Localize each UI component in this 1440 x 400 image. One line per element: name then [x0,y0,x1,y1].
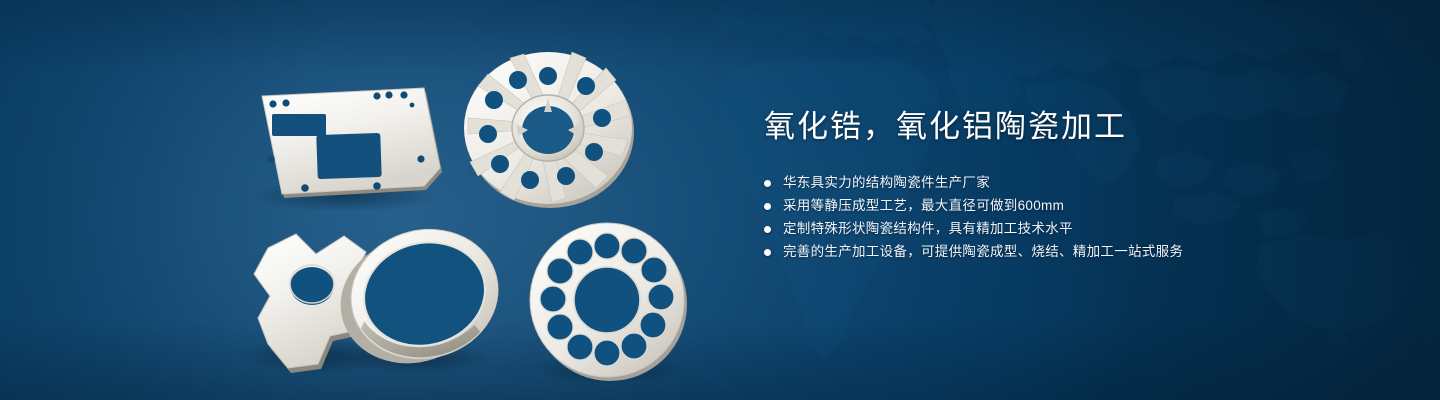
feature-text: 采用等静压成型工艺，最大直径可做到600mm [783,195,1064,217]
page-title: 氧化锆，氧化铝陶瓷加工 [764,104,1404,150]
list-item: 采用等静压成型工艺，最大直径可做到600mm [764,195,1404,217]
feature-text: 华东具实力的结构陶瓷件生产厂家 [783,172,990,194]
feature-list: 华东具实力的结构陶瓷件生产厂家 采用等静压成型工艺，最大直径可做到600mm 定… [764,172,1404,263]
bullet-dot-icon [764,203,771,210]
feature-text: 完善的生产加工设备，可提供陶瓷成型、烧结、精加工一站式服务 [783,241,1183,263]
bullet-dot-icon [764,226,771,233]
feature-text: 定制特殊形状陶瓷结构件，具有精加工技术水平 [783,218,1073,240]
list-item: 完善的生产加工设备，可提供陶瓷成型、烧结、精加工一站式服务 [764,241,1404,263]
bullet-dot-icon [764,180,771,187]
hero-banner: 氧化锆，氧化铝陶瓷加工 华东具实力的结构陶瓷件生产厂家 采用等静压成型工艺，最大… [0,0,1440,400]
bullet-dot-icon [764,249,771,256]
list-item: 定制特殊形状陶瓷结构件，具有精加工技术水平 [764,218,1404,240]
copy-block: 氧化锆，氧化铝陶瓷加工 华东具实力的结构陶瓷件生产厂家 采用等静压成型工艺，最大… [764,104,1404,264]
list-item: 华东具实力的结构陶瓷件生产厂家 [764,172,1404,194]
